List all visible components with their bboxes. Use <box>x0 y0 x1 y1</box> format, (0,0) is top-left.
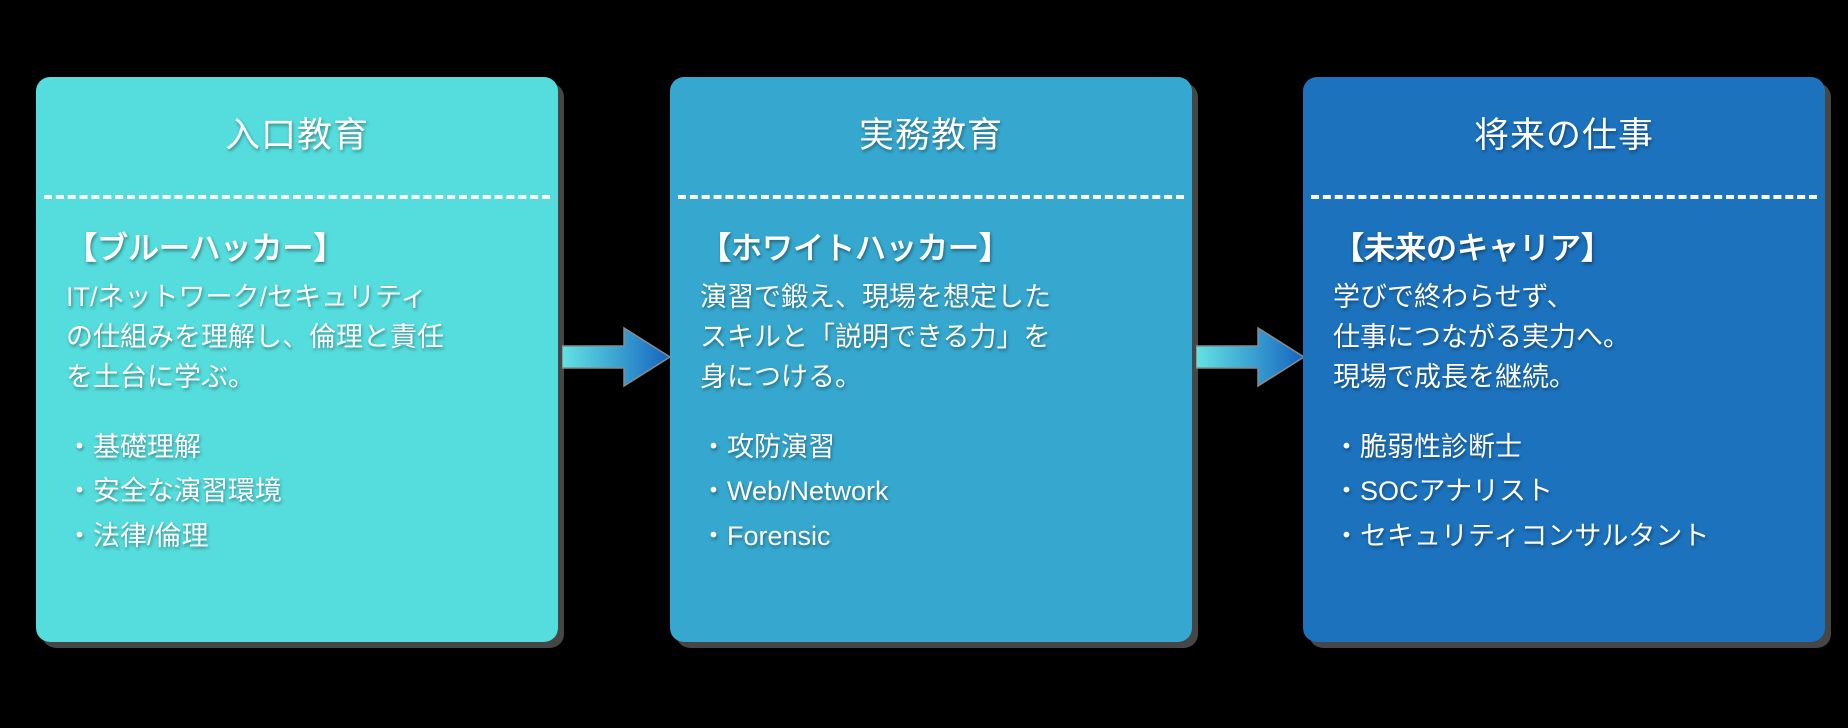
card-title: 入口教育 <box>36 77 558 195</box>
card-description: 演習で鍛え、現場を想定した スキルと「説明できる力」を 身につける。 <box>700 278 1162 398</box>
card-divider <box>44 195 550 199</box>
description-line: 仕事につながる実力へ。 <box>1333 318 1795 358</box>
stage-card-future-work[interactable]: 将来の仕事 【未来のキャリア】 学びで終わらせず、 仕事につながる実力へ。 現場… <box>1303 77 1825 642</box>
card-divider <box>1311 195 1817 199</box>
list-item: Forensic <box>700 514 1162 559</box>
description-line: スキルと「説明できる力」を <box>700 318 1162 358</box>
card-body: 【未来のキャリア】 学びで終わらせず、 仕事につながる実力へ。 現場で成長を継続… <box>1303 199 1825 642</box>
bullet-label: 攻防演習 <box>727 432 835 462</box>
arrow-stage-1-to-2 <box>562 326 670 388</box>
card-body: 【ホワイトハッカー】 演習で鍛え、現場を想定した スキルと「説明できる力」を 身… <box>670 199 1192 642</box>
card-bullet-list: 基礎理解 安全な演習環境 法律/倫理 <box>66 425 528 559</box>
list-item: 脆弱性診断士 <box>1333 425 1795 470</box>
bullet-label: Forensic <box>727 521 831 551</box>
card-heading: 【未来のキャリア】 <box>1333 223 1795 268</box>
card-bullet-list: 脆弱性診断士 SOCアナリスト セキュリティコンサルタント <box>1333 425 1795 559</box>
bullet-label: Web/Network <box>727 476 889 506</box>
list-item: Web/Network <box>700 469 1162 514</box>
bullet-label: 基礎理解 <box>93 432 201 462</box>
bullet-label: 法律/倫理 <box>93 521 209 551</box>
diagram-canvas: 入口教育 【ブルーハッカー】 IT/ネットワーク/セキュリティ の仕組みを理解し… <box>0 0 1848 728</box>
arrow-right-icon <box>562 326 670 388</box>
bullet-label: セキュリティコンサルタント <box>1360 521 1709 551</box>
card-description: 学びで終わらせず、 仕事につながる実力へ。 現場で成長を継続。 <box>1333 278 1795 398</box>
card-bullet-list: 攻防演習 Web/Network Forensic <box>700 425 1162 559</box>
bullet-label: 安全な演習環境 <box>93 476 282 506</box>
bullet-label: SOCアナリスト <box>1360 476 1553 506</box>
card-heading: 【ブルーハッカー】 <box>66 223 528 268</box>
card-divider <box>678 195 1184 199</box>
description-line: 学びで終わらせず、 <box>1333 278 1795 318</box>
stage-card-practical-education[interactable]: 実務教育 【ホワイトハッカー】 演習で鍛え、現場を想定した スキルと「説明できる… <box>670 77 1192 642</box>
list-item: 攻防演習 <box>700 425 1162 470</box>
card-description: IT/ネットワーク/セキュリティ の仕組みを理解し、倫理と責任 を土台に学ぶ。 <box>66 278 528 398</box>
description-line: を土台に学ぶ。 <box>66 358 528 398</box>
list-item: セキュリティコンサルタント <box>1333 514 1795 559</box>
card-body: 【ブルーハッカー】 IT/ネットワーク/セキュリティ の仕組みを理解し、倫理と責… <box>36 199 558 642</box>
card-heading: 【ホワイトハッカー】 <box>700 223 1162 268</box>
list-item: 基礎理解 <box>66 425 528 470</box>
arrow-stage-2-to-3 <box>1196 326 1304 388</box>
arrow-right-icon <box>1196 326 1304 388</box>
description-line: 演習で鍛え、現場を想定した <box>700 278 1162 318</box>
bullet-label: 脆弱性診断士 <box>1360 432 1522 462</box>
stage-card-entry-education[interactable]: 入口教育 【ブルーハッカー】 IT/ネットワーク/セキュリティ の仕組みを理解し… <box>36 77 558 642</box>
description-line: 現場で成長を継続。 <box>1333 358 1795 398</box>
description-line: IT/ネットワーク/セキュリティ <box>66 278 528 318</box>
list-item: 法律/倫理 <box>66 514 528 559</box>
description-line: 身につける。 <box>700 358 1162 398</box>
card-title: 将来の仕事 <box>1303 77 1825 195</box>
list-item: SOCアナリスト <box>1333 469 1795 514</box>
description-line: の仕組みを理解し、倫理と責任 <box>66 318 528 358</box>
card-title: 実務教育 <box>670 77 1192 195</box>
list-item: 安全な演習環境 <box>66 469 528 514</box>
